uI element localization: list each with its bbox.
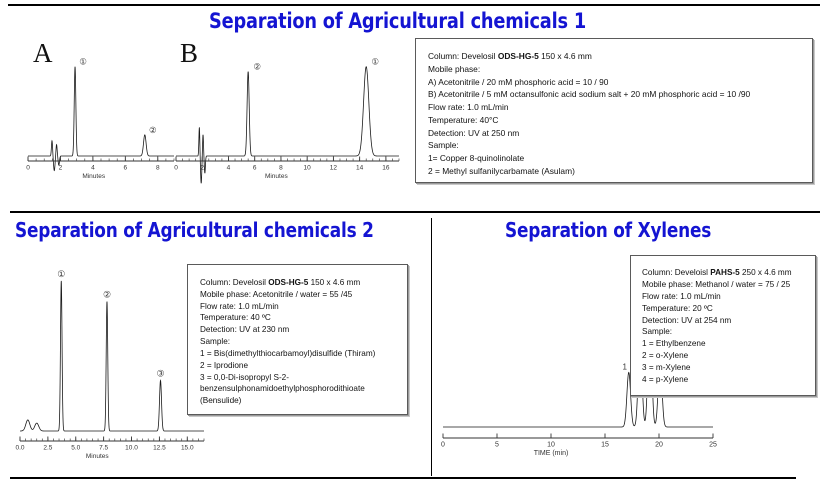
page-title-agricultural-1: Separation of Agricultural chemicals 1 (209, 9, 586, 33)
peak-label: ③ (156, 368, 164, 378)
method-infobox-agricultural-1: Column: Develosil ODS-HG-5 150 x 4.6 mmM… (415, 38, 813, 183)
middle-divider-rule (10, 211, 820, 213)
x-axis-tick-label: 5.0 (71, 445, 80, 452)
method-line: Sample: (428, 139, 812, 152)
x-axis-tick-label: 4 (227, 165, 231, 172)
chromatogram-trace (176, 67, 399, 184)
peak-label: ② (149, 125, 157, 135)
chromatogram-b: 0246810121416Minutes②① (170, 40, 405, 185)
x-axis-label: Minutes (86, 453, 110, 460)
method-line: Column: Develoisl PAHS-5 250 x 4.6 mm (642, 267, 815, 279)
peak-label: ① (57, 269, 65, 279)
chromatogram-agricultural-2-plot: 0.02.55.07.510.012.515.0Minutes①②③ (12, 243, 212, 463)
method-line: 3 = m-Xylene (642, 362, 815, 374)
chromatogram-a-plot: 02468Minutes①② (22, 40, 180, 185)
x-axis-tick-label: 0 (174, 165, 178, 172)
x-axis-tick-label: 25 (709, 442, 717, 449)
chromatogram-agricultural-2: 0.02.55.07.510.012.515.0Minutes①②③ (12, 243, 212, 463)
x-axis-tick-label: 7.5 (99, 445, 108, 452)
method-line: 1= Copper 8-quinolinolate (428, 152, 812, 165)
method-line: Detection: UV at 250 nm (428, 127, 812, 140)
x-axis-tick-label: 2.5 (43, 445, 52, 452)
method-line: Mobile phase: Methanol / water = 75 / 25 (642, 279, 815, 291)
method-line: Detection: UV at 230 nm (200, 324, 407, 336)
x-axis-tick-label: 5 (495, 442, 499, 449)
method-line: 4 = p-Xylene (642, 374, 815, 386)
chromatogram-b-plot: 0246810121416Minutes②① (170, 40, 405, 185)
x-axis-tick-label: 2 (200, 165, 204, 172)
chromatogram-a: 02468Minutes①② (22, 40, 180, 185)
peak-label: ① (371, 57, 379, 67)
page-title-xylenes: Separation of Xylenes (505, 218, 711, 242)
method-line: Column: Develosil ODS-HG-5 150 x 4.6 mm (428, 50, 812, 63)
method-line: A) Acetonitrile / 20 mM phosphoric acid … (428, 76, 812, 89)
x-axis-tick-label: 16 (382, 165, 390, 172)
method-line: Flow rate: 1.0 mL/min (200, 301, 407, 313)
x-axis-tick-label: 15.0 (181, 445, 194, 452)
method-line: Detection: UV at 254 nm (642, 315, 815, 327)
x-axis-label: Minutes (265, 173, 289, 180)
method-line: 2 = Iprodione (200, 360, 407, 372)
x-axis-tick-label: 10 (304, 165, 312, 172)
x-axis-tick-label: 15 (601, 442, 609, 449)
page-title-agricultural-2: Separation of Agricultural chemicals 2 (15, 218, 374, 242)
method-line: 3 = 0,0-Di-isopropyl S-2- (200, 372, 407, 384)
method-line: 2 = Methyl sulfanilycarbamate (Asulam) (428, 165, 812, 178)
method-line: benzensulphonamidoethylphosphorodithioat… (200, 383, 407, 395)
x-axis-tick-label: 12 (330, 165, 338, 172)
x-axis-tick-label: 8 (279, 165, 283, 172)
chromatogram-trace (20, 281, 204, 431)
method-infobox-xylenes: Column: Develoisl PAHS-5 250 x 4.6 mmMob… (630, 255, 816, 396)
x-axis-tick-label: 0 (441, 442, 445, 449)
bottom-divider-rule (10, 477, 796, 479)
x-axis-tick-label: 20 (655, 442, 663, 449)
x-axis-label: TIME (min) (534, 450, 569, 457)
method-line: (Bensulide) (200, 395, 407, 407)
x-axis-tick-label: 6 (253, 165, 257, 172)
method-infobox-agricultural-2: Column: Develosil ODS-HG-5 150 x 4.6 mmM… (187, 264, 408, 415)
method-line: B) Acetonitrile / 5 mM octansulfonic aci… (428, 88, 812, 101)
method-line: 1 = Ethylbenzene (642, 338, 815, 350)
method-line: Temperature: 20 ºC (642, 303, 815, 315)
peak-label: 1 (623, 362, 628, 371)
x-axis-tick-label: 10 (547, 442, 555, 449)
x-axis-tick-label: 8 (156, 165, 160, 172)
method-line: Flow rate: 1.0 mL/min (428, 101, 812, 114)
x-axis-tick-label: 6 (124, 165, 128, 172)
method-line: 2 = o-Xylene (642, 350, 815, 362)
method-line: Mobile phase: Acetonitrile / water = 55 … (200, 289, 407, 301)
method-line: 1 = Bis(dimethylthiocarbamoyl)disulfide … (200, 348, 407, 360)
x-axis-label: Minutes (82, 173, 106, 180)
peak-label: ① (79, 57, 87, 67)
method-line: Temperature: 40 ºC (200, 312, 407, 324)
vertical-divider (431, 218, 432, 476)
x-axis-tick-label: 10.0 (125, 445, 138, 452)
method-line: Sample: (200, 336, 407, 348)
top-divider-rule (8, 4, 820, 6)
method-line: Mobile phase: (428, 63, 812, 76)
method-line: Temperature: 40°C (428, 114, 812, 127)
x-axis-tick-label: 4 (91, 165, 95, 172)
x-axis-tick-label: 14 (356, 165, 364, 172)
peak-label: ② (253, 62, 261, 72)
x-axis-tick-label: 2 (59, 165, 63, 172)
x-axis-tick-label: 0.0 (15, 445, 24, 452)
method-line: Sample: (642, 326, 815, 338)
method-line: Flow rate: 1.0 mL/min (642, 291, 815, 303)
method-line: Column: Develosil ODS-HG-5 150 x 4.6 mm (200, 277, 407, 289)
x-axis-tick-label: 0 (26, 165, 30, 172)
peak-label: ② (103, 289, 111, 299)
x-axis-tick-label: 12.5 (153, 445, 166, 452)
chromatogram-trace (28, 67, 174, 171)
